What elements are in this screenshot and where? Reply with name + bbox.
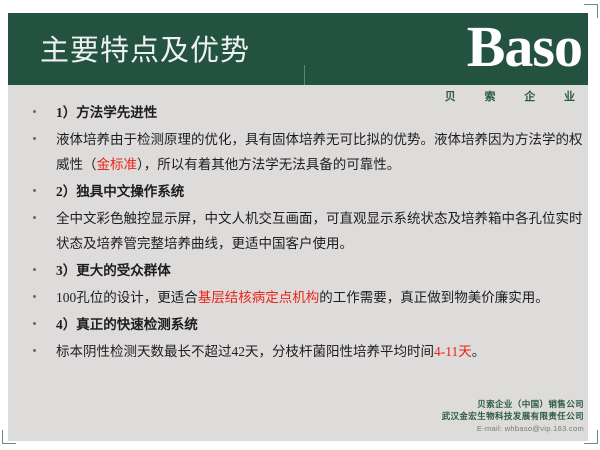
- bullet-dot-icon: [33, 189, 36, 192]
- footer-company-legal-name: 武汉金宏生物科技发展有限责任公司: [442, 410, 584, 422]
- list-item: 3）更大的受众群体: [8, 258, 588, 283]
- body-run: 。: [472, 344, 486, 359]
- bullet-dot-icon: [33, 295, 36, 298]
- bullet-dot-icon: [33, 349, 36, 352]
- list-item: 100孔位的设计，更适合基层结核病定点机构的工作需要，真正做到物美价廉实用。: [8, 285, 588, 310]
- page-title: 主要特点及优势: [40, 27, 250, 69]
- footer-email: E-mail: whbaso@vip.163.com: [442, 422, 584, 436]
- bullet-dot-icon: [33, 322, 36, 325]
- list-item: 4）真正的快速检测系统: [8, 312, 588, 337]
- list-item: 液体培养由于检测原理的优化，具有固体培养无可比拟的优势。液体培养因为方法学的权威…: [8, 127, 588, 177]
- section-body: 全中文彩色触控显示屏，中文人机交互画面，可直观显示系统状态及培养箱中各孔位实时状…: [56, 211, 583, 251]
- section-body: 液体培养由于检测原理的优化，具有固体培养无可比拟的优势。液体培养因为方法学的权威…: [56, 132, 583, 172]
- section-body: 标本阴性检测天数最长不超过42天，分枝杆菌阳性培养平均时间4-11天。: [56, 344, 485, 359]
- baso-logo-wordmark: Baso: [467, 18, 582, 76]
- body-run-highlighted: 4-11天: [434, 344, 472, 359]
- body-run: 全中文彩色触控显示屏，中文人机交互画面，可直观显示系统状态及培养箱中各孔位实时状…: [56, 211, 583, 251]
- section-heading: 3）更大的受众群体: [56, 263, 171, 278]
- body-run-highlighted: 金标准: [97, 157, 138, 172]
- bullet-dot-icon: [33, 110, 36, 113]
- body-run: 标本阴性检测天数最长不超过42天，分枝杆菌阳性培养平均时间: [56, 344, 434, 359]
- list-item: 1）方法学先进性: [8, 100, 588, 125]
- corner-bracket-top-right-icon: [584, 4, 598, 18]
- bullet-dot-icon: [33, 216, 36, 219]
- presentation-slide: 主要特点及优势 Baso 贝 索 企 业 1）方法学先进性 液体培养由于检测原理…: [0, 0, 600, 450]
- bullet-dot-icon: [33, 137, 36, 140]
- bullet-list: 1）方法学先进性 液体培养由于检测原理的优化，具有固体培养无可比拟的优势。液体培…: [8, 100, 588, 390]
- title-divider: [304, 65, 305, 85]
- section-heading: 4）真正的快速检测系统: [56, 317, 198, 332]
- body-run: ），所以有着其他方法学无法具备的可靠性。: [137, 157, 400, 172]
- section-body: 100孔位的设计，更适合基层结核病定点机构的工作需要，真正做到物美价廉实用。: [56, 290, 549, 305]
- list-item: 标本阴性检测天数最长不超过42天，分枝杆菌阳性培养平均时间4-11天。: [8, 339, 588, 364]
- slide-footer: 贝索企业（中国）销售公司 武汉金宏生物科技发展有限责任公司 E-mail: wh…: [442, 398, 584, 436]
- footer-company-name: 贝索企业（中国）销售公司: [442, 398, 584, 410]
- corner-bracket-bottom-right-icon: [584, 430, 598, 444]
- section-heading: 2）独具中文操作系统: [56, 184, 184, 199]
- list-item: 全中文彩色触控显示屏，中文人机交互画面，可直观显示系统状态及培养箱中各孔位实时状…: [8, 206, 588, 256]
- body-run-highlighted: 基层结核病定点机构: [198, 290, 320, 305]
- header-banner: 主要特点及优势 Baso: [8, 13, 588, 85]
- section-heading: 1）方法学先进性: [56, 105, 157, 120]
- bullet-dot-icon: [33, 268, 36, 271]
- corner-bracket-bottom-left-icon: [2, 430, 16, 444]
- list-item: 2）独具中文操作系统: [8, 179, 588, 204]
- body-run: 100孔位的设计，更适合: [56, 290, 198, 305]
- body-run: 的工作需要，真正做到物美价廉实用。: [319, 290, 549, 305]
